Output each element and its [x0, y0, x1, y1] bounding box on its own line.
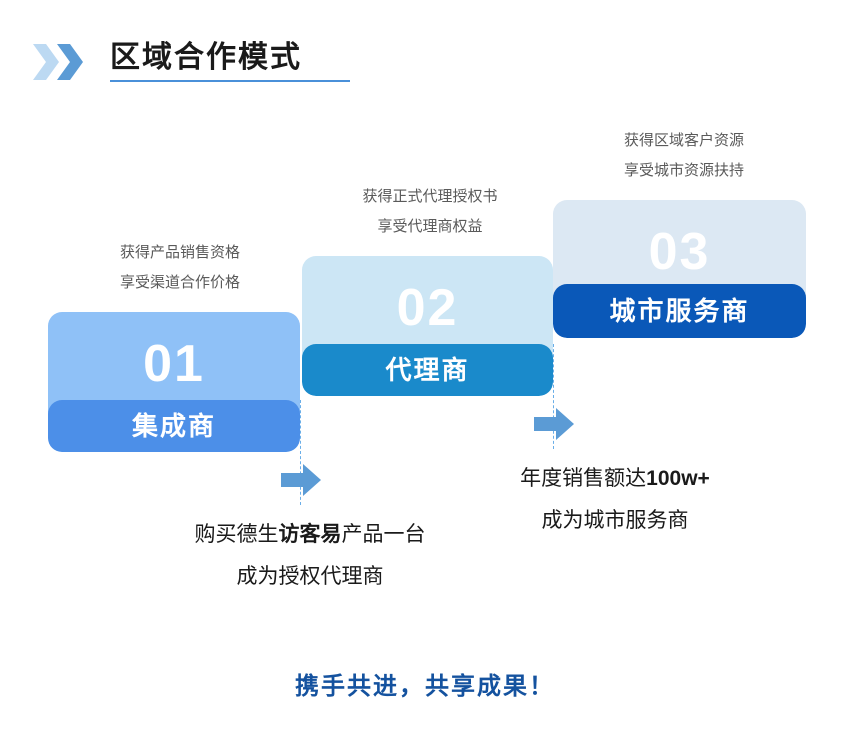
header: 区域合作模式 [0, 0, 850, 110]
tier-caption-02-line2: 享受代理商权益 [308, 212, 552, 242]
step-text-1-line2: 成为授权代理商 [135, 556, 485, 598]
chevron-right-light-icon [33, 44, 59, 80]
tier-caption-02-line1: 获得正式代理授权书 [308, 182, 552, 212]
tier-caption-03-line2: 享受城市资源扶持 [562, 156, 806, 186]
tier-number-01: 01 [48, 338, 300, 390]
step-text-1-prefix: 购买德生 [195, 523, 279, 546]
step-text-1-highlight: 访客易 [279, 523, 342, 546]
title-underline [110, 80, 350, 82]
flow-arrow-right-1 [281, 464, 321, 496]
tier-number-02: 02 [302, 282, 553, 334]
chevron-group [33, 44, 101, 80]
page-title: 区域合作模式 [110, 38, 370, 78]
tier-caption-02: 获得正式代理授权书 享受代理商权益 [308, 182, 552, 242]
tier-card-03[interactable]: 03 城市服务商 [553, 200, 806, 338]
tier-number-03: 03 [553, 226, 806, 278]
infographic-canvas: 区域合作模式 获得产品销售资格 享受渠道合作价格 获得正式代理授权书 享受代理商… [0, 0, 850, 737]
tier-bar-03: 城市服务商 [553, 284, 806, 338]
tier-caption-01-line2: 享受渠道合作价格 [60, 268, 300, 298]
tier-caption-01: 获得产品销售资格 享受渠道合作价格 [60, 238, 300, 298]
tier-bar-01: 集成商 [48, 400, 300, 452]
step-text-1-line1: 购买德生访客易产品一台 [135, 514, 485, 556]
step-text-2-line2: 成为城市服务商 [465, 500, 765, 542]
flow-arrow-right-2 [534, 408, 574, 440]
tier-label-01: 集成商 [132, 413, 216, 439]
step-text-2-prefix: 年度销售额达 [520, 467, 646, 490]
tier-card-01[interactable]: 01 集成商 [48, 312, 300, 452]
step-text-2-highlight: 100w+ [646, 467, 710, 490]
tier-card-02[interactable]: 02 代理商 [302, 256, 553, 396]
step-text-2-line1: 年度销售额达100w+ [465, 458, 765, 500]
tier-bar-02: 代理商 [302, 344, 553, 396]
tier-label-03: 城市服务商 [609, 298, 749, 324]
title-block: 区域合作模式 [110, 38, 370, 82]
tier-caption-01-line1: 获得产品销售资格 [60, 238, 300, 268]
tier-caption-03: 获得区域客户资源 享受城市资源扶持 [562, 126, 806, 186]
step-text-1-suffix: 产品一台 [342, 523, 426, 546]
tier-label-02: 代理商 [385, 357, 469, 383]
step-text-1: 购买德生访客易产品一台 成为授权代理商 [135, 514, 485, 598]
step-text-2: 年度销售额达100w+ 成为城市服务商 [465, 458, 765, 542]
tier-caption-03-line1: 获得区域客户资源 [562, 126, 806, 156]
chevron-right-dark-icon [57, 44, 83, 80]
footer-slogan: 携手共进，共享成果！ [0, 670, 850, 704]
